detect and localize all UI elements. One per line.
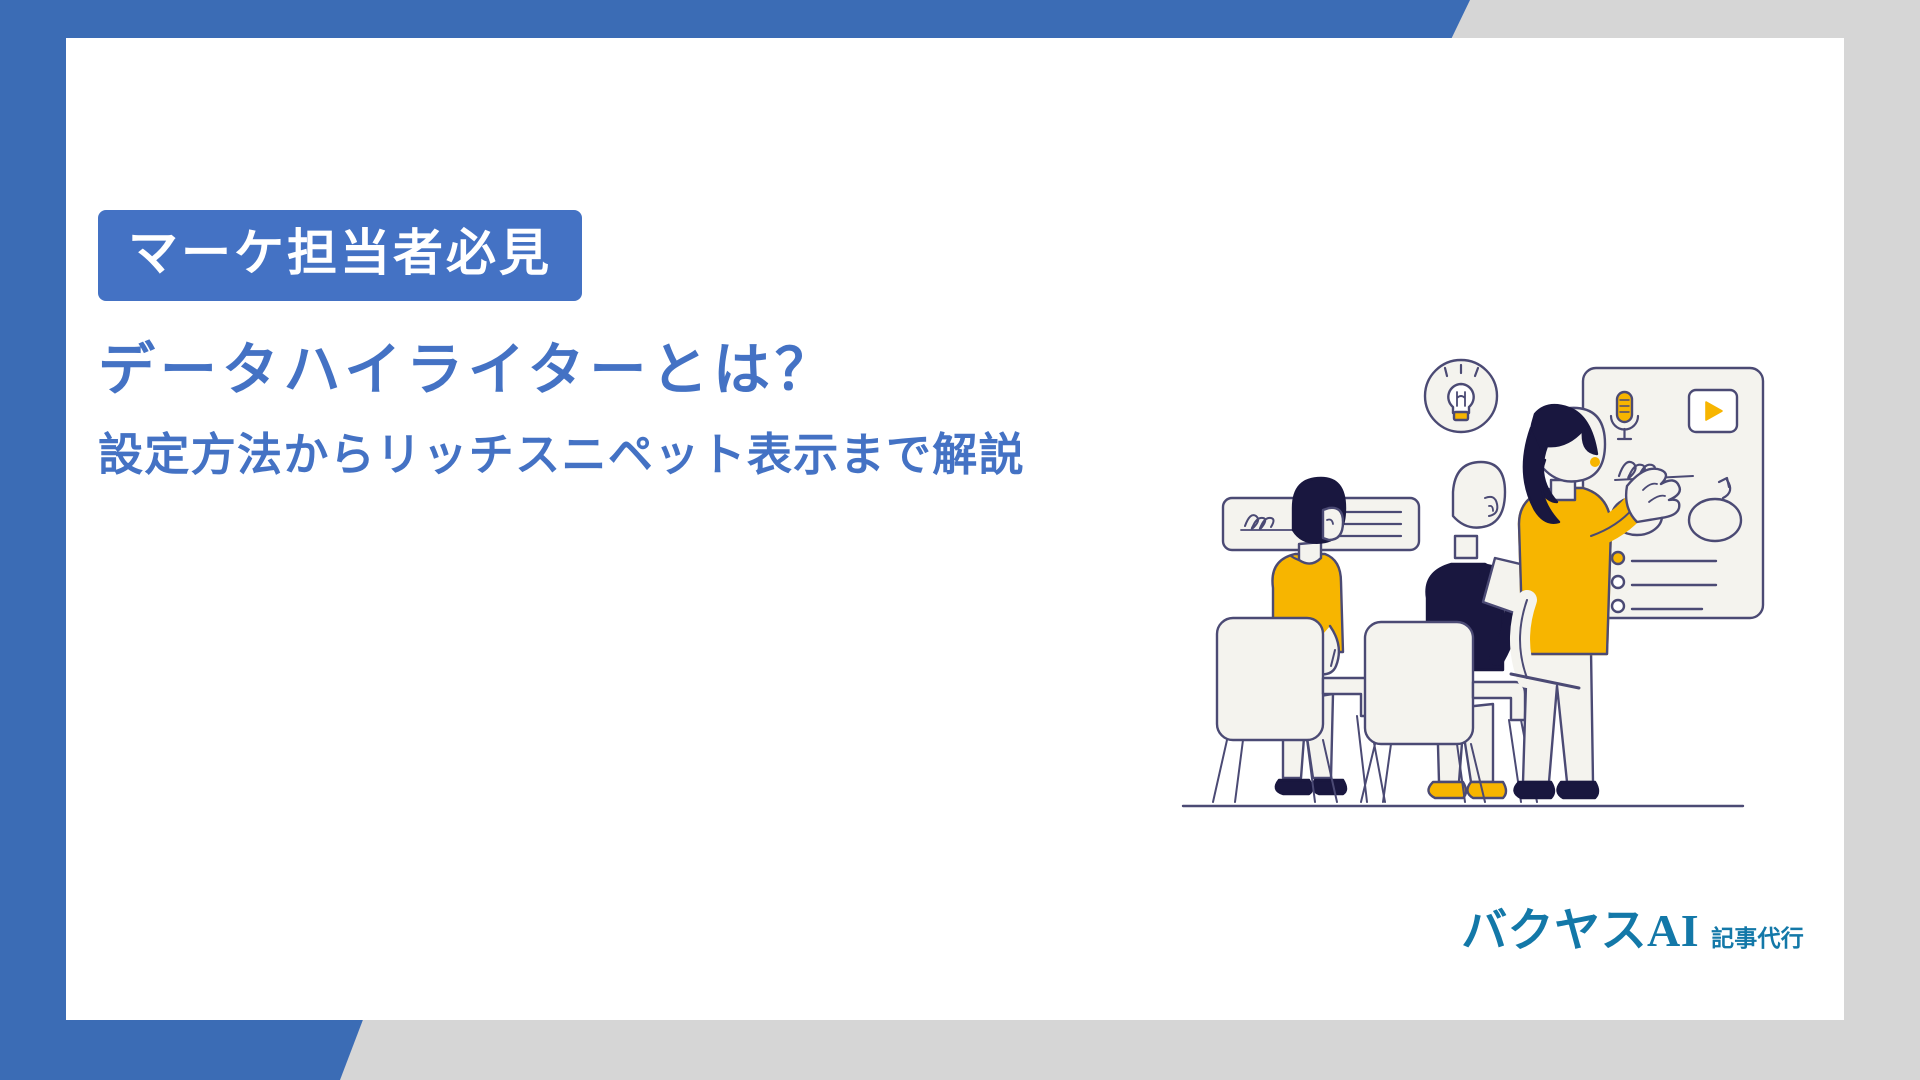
play-button-icon xyxy=(1689,390,1737,432)
lightbulb-idea-badge xyxy=(1425,360,1497,432)
brand-logo: バクヤスAI 記事代行 xyxy=(1461,894,1804,960)
presentation-meeting-illustration xyxy=(1175,330,1795,850)
hero-text-block: マーケ担当者必見 データハイライターとは？ 設定方法からリッチスニペット表示まで… xyxy=(98,210,1158,487)
page-title: データハイライターとは？ xyxy=(98,335,1158,406)
logo-service-text: 記事代行 xyxy=(1711,919,1804,953)
page-subtitle: 設定方法からリッチスニペット表示まで解説 xyxy=(98,423,1108,487)
logo-brand-text: バクヤスAI xyxy=(1461,894,1699,960)
audience-badge: マーケ担当者必見 xyxy=(98,210,582,301)
slide-canvas: マーケ担当者必見 データハイライターとは？ 設定方法からリッチスニペット表示まで… xyxy=(0,0,1920,1080)
